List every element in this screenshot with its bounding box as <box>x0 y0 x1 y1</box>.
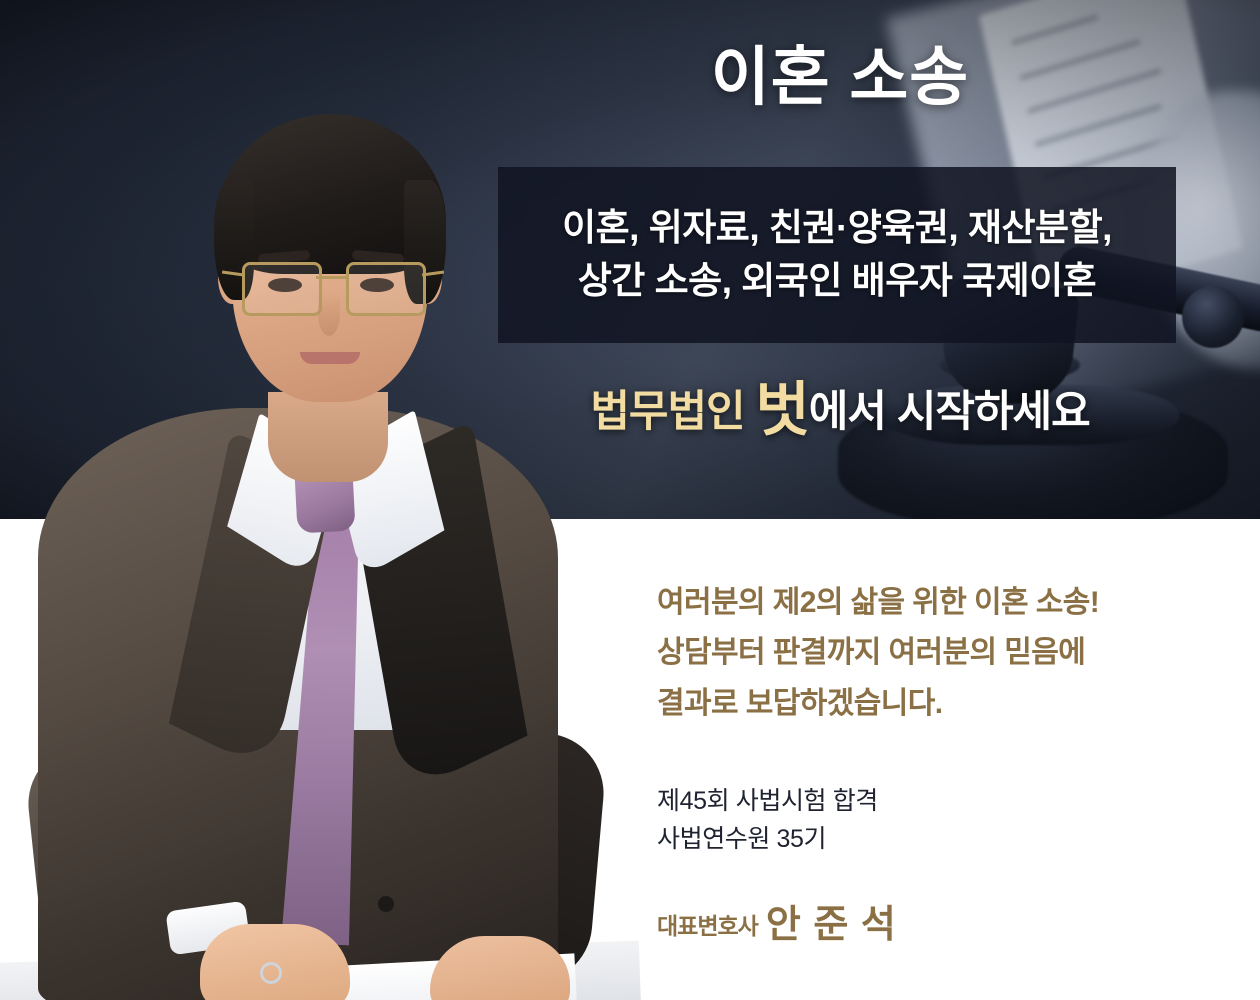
tagline-firm-prefix: 법무법인 <box>590 388 755 436</box>
neck <box>268 392 388 482</box>
firm-tagline: 법무법인 벗에서 시작하세요 <box>500 362 1180 447</box>
lawyer-credentials: 제45회 사법시험 합격 사법연수원 35기 <box>657 782 878 858</box>
promise-line-3: 결과로 보답하겠습니다. <box>657 679 1217 729</box>
suit-button <box>378 896 394 912</box>
credential-bar-exam: 제45회 사법시험 합격 <box>657 782 878 820</box>
divorce-lawsuit-banner: 이혼 소송 이혼, 위자료, 친권·양육권, 재산분할, 상간 소송, 외국인 … <box>0 0 1260 1000</box>
eyeglass-lens-right <box>346 262 426 316</box>
eyeglass-bridge <box>316 276 348 279</box>
mouth <box>300 352 360 364</box>
eyeglass-lens-left <box>242 262 322 316</box>
lawyer-name: 안 준 석 <box>766 904 897 946</box>
practice-areas-line-1: 이혼, 위자료, 친권·양육권, 재산분할, <box>562 202 1112 255</box>
credential-judicial-training: 사법연수원 35기 <box>657 820 878 858</box>
lawyer-portrait-photo <box>0 0 620 1000</box>
promise-line-2: 상담부터 판결까지 여러분의 믿음에 <box>657 628 1217 678</box>
tagline-suffix: 에서 시작하세요 <box>809 388 1090 436</box>
tagline-firm-name: 벗 <box>756 377 809 443</box>
wedding-ring <box>260 962 282 984</box>
practice-areas-line-2: 상간 소송, 외국인 배우자 국제이혼 <box>578 255 1096 308</box>
page-title: 이혼 소송 <box>500 42 1180 112</box>
promise-line-1: 여러분의 제2의 삶을 위한 이혼 소송! <box>657 578 1217 628</box>
portrait-fade <box>0 470 620 540</box>
lawyer-role: 대표변호사 <box>657 913 758 939</box>
practice-areas-panel: 이혼, 위자료, 친권·양육권, 재산분할, 상간 소송, 외국인 배우자 국제… <box>498 167 1176 343</box>
lawyer-attribution: 대표변호사안 준 석 <box>657 893 897 948</box>
nose <box>318 292 340 336</box>
promise-message: 여러분의 제2의 삶을 위한 이혼 소송! 상담부터 판결까지 여러분의 믿음에… <box>657 578 1217 729</box>
